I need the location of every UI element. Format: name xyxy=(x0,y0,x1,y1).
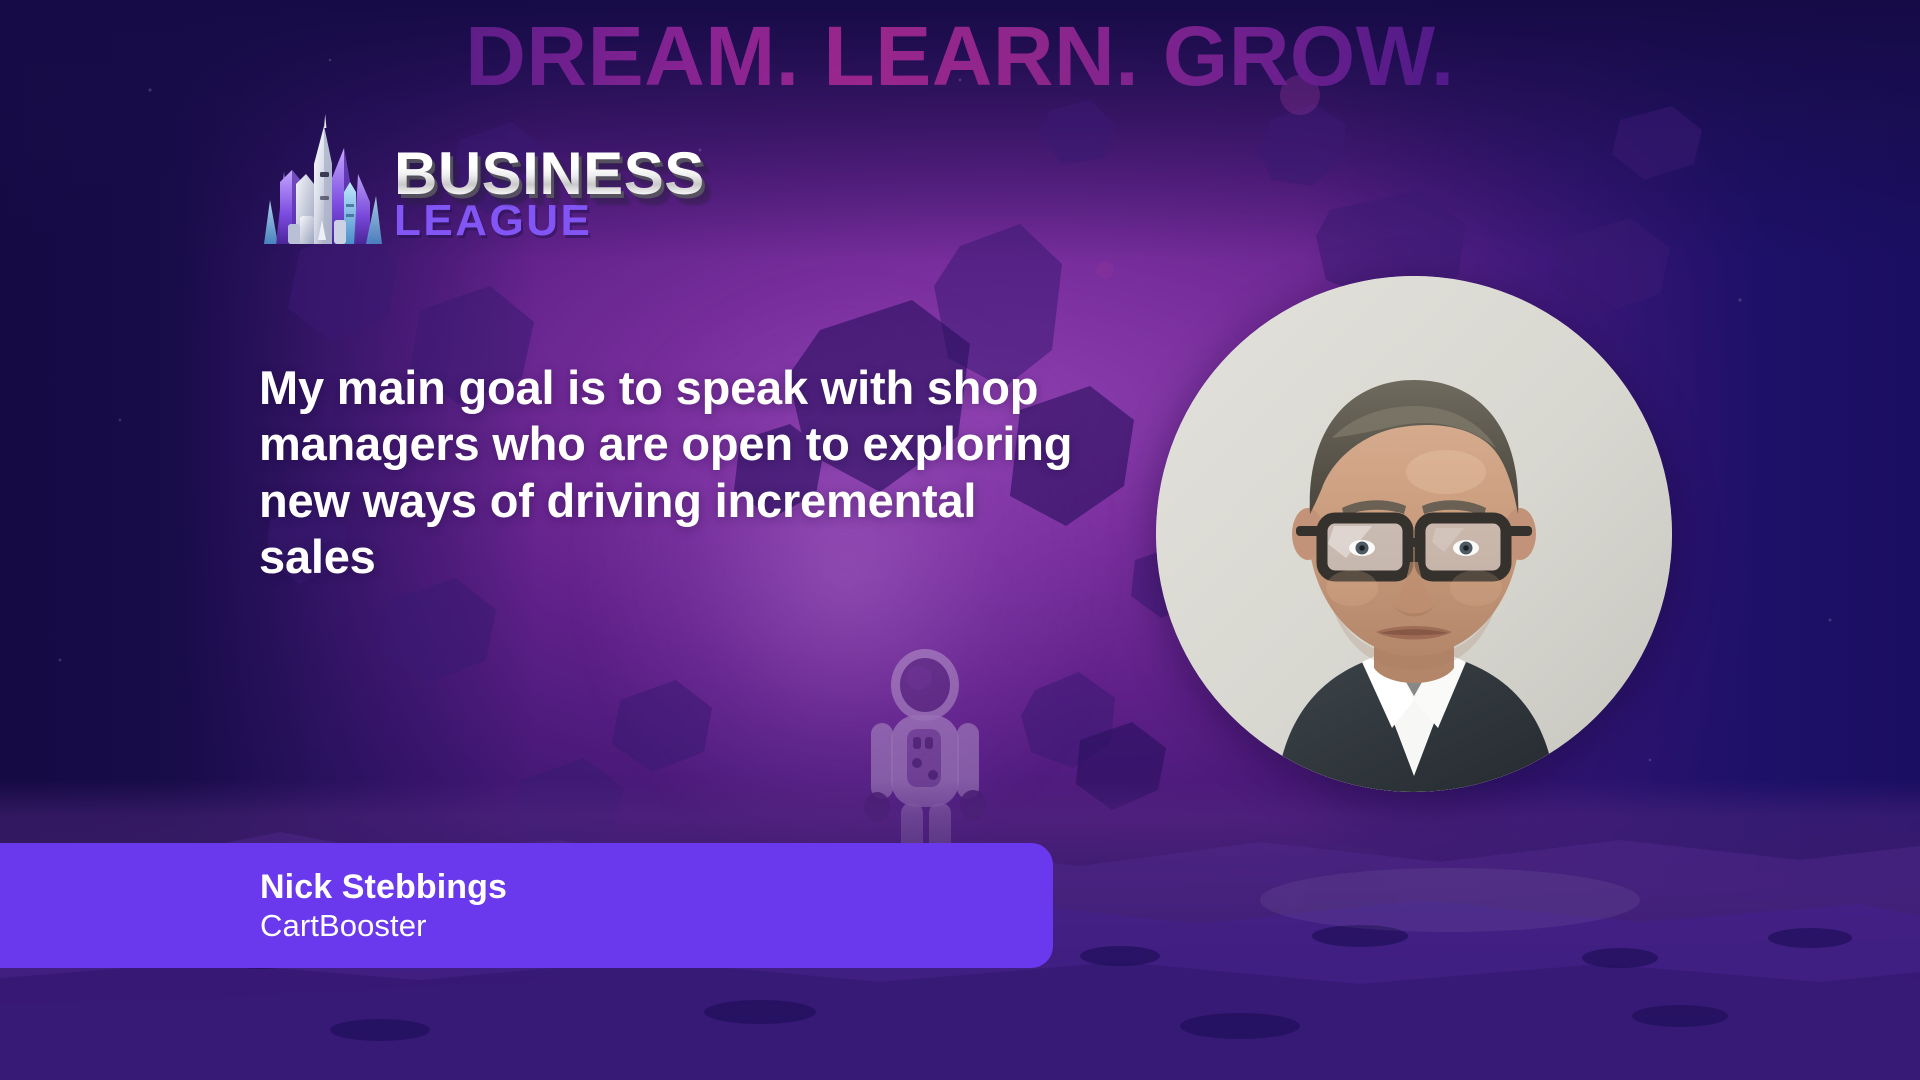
speaker-avatar xyxy=(1156,276,1672,792)
speaker-company: CartBooster xyxy=(260,907,1053,944)
logo-wordmark: BUSINESS LEAGUE xyxy=(394,145,705,247)
futuristic-city-skyline-icon xyxy=(258,112,388,247)
speaker-card: DREAM. LEARN. GROW. xyxy=(0,0,1920,1080)
speaker-quote: My main goal is to speak with shop manag… xyxy=(259,360,1089,586)
speaker-name: Nick Stebbings xyxy=(260,867,1053,907)
logo-business-text: BUSINESS xyxy=(394,145,705,203)
speaker-name-banner: Nick Stebbings CartBooster xyxy=(0,843,1053,968)
event-tagline: DREAM. LEARN. GROW. xyxy=(0,14,1920,98)
business-league-logo: BUSINESS LEAGUE xyxy=(258,112,705,247)
